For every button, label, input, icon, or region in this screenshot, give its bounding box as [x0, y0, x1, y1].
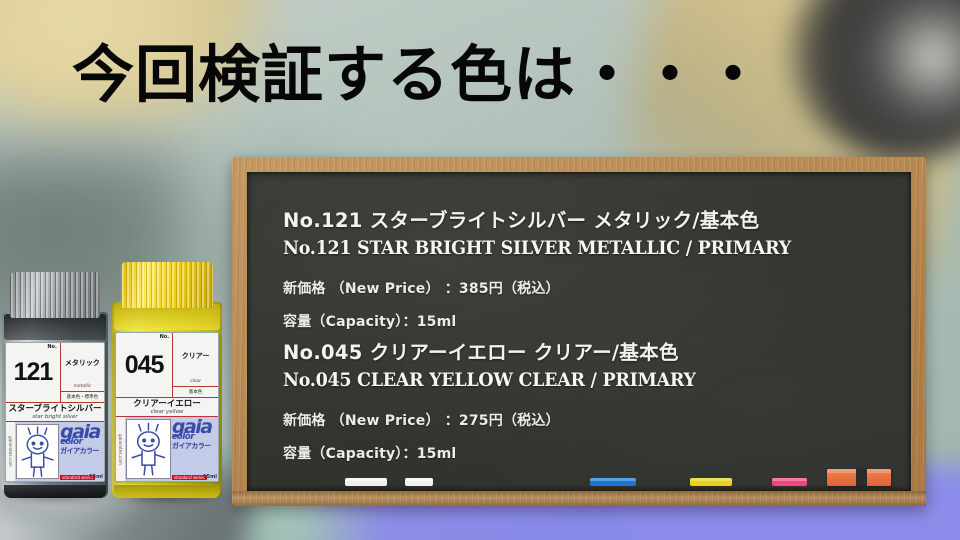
product-entry-no121: No.121 スターブライトシルバー メタリック/基本色 No.121 STAR…: [283, 204, 835, 331]
chalk-pink[interactable]: [772, 478, 807, 486]
label-colorname-no121: スターブライトシルバー star bright silver: [6, 403, 104, 422]
product-heading-en-no045: No.045 CLEAR YELLOW CLEAR / PRIMARY: [283, 369, 696, 391]
volume-badge-no121: 15ml: [89, 474, 103, 480]
label-top-row-no121: No. 121 メタリック metallic 基本色・標準色: [6, 343, 104, 403]
frame-bottom-sheen: [232, 491, 926, 506]
product-heading-jp-no121: No.121 スターブライトシルバー メタリック/基本色: [283, 204, 835, 233]
label-colorname-en-no045: clear yellow: [116, 409, 218, 416]
label-finish-jp-no121: メタリック: [61, 343, 104, 384]
product-entry-no045: No.045 クリアーイエロー クリアー/基本色 No.045 CLEAR YE…: [283, 336, 732, 463]
chalk-blue[interactable]: [590, 478, 636, 486]
page-title: 今回検証する色は・・・: [72, 44, 765, 106]
volume-badge-no045: 15ml: [203, 474, 217, 480]
blackboard-frame: No.121 スターブライトシルバー メタリック/基本色 No.121 STAR…: [232, 157, 926, 506]
label-colorname-jp-no121: スターブライトシルバー: [6, 404, 104, 414]
label-number-block-no121: No. 121: [6, 343, 61, 402]
label-no-tag-no121: No.: [47, 344, 57, 350]
label-top-row-no045: No. 045 クリアー clear 基本色: [116, 333, 218, 398]
product-price-no045: 新価格 （New Price） ：275円（税込）: [283, 410, 732, 430]
label-side-url-no045: gaianotes.com: [116, 417, 125, 481]
mascot-icon: [126, 419, 171, 479]
label-finish-note-no045: 基本色: [173, 386, 218, 397]
paint-bottle-no121[interactable]: No. 121 メタリック metallic 基本色・標準色 スターブライトシル…: [2, 272, 108, 498]
label-finish-note-no121: 基本色・標準色: [61, 391, 104, 402]
product-capacity-no121: 容量（Capacity）：15ml: [283, 311, 835, 331]
product-heading-en-no121: No.121 STAR BRIGHT SILVER METALLIC / PRI…: [283, 237, 791, 259]
label-colorname-no045: クリアーイエロー clear yellow: [116, 398, 218, 417]
label-colorname-jp-no045: クリアーイエロー: [116, 399, 218, 409]
label-bottom-row-no121: gaianotes.com: [6, 422, 104, 481]
label-no-tag-no045: No.: [160, 334, 170, 340]
product-price-no121: 新価格 （New Price） ：385円（税込）: [283, 278, 835, 298]
bottle-glass-body-no121: No. 121 メタリック metallic 基本色・標準色 スターブライトシル…: [2, 312, 108, 498]
bottle-label-no121: No. 121 メタリック metallic 基本色・標準色 スターブライトシル…: [5, 342, 105, 482]
series-badge-no045: standard series: [172, 475, 207, 480]
label-colorname-en-no121: star bright silver: [6, 414, 104, 421]
brand-jp-no121: ガイアカラー: [60, 446, 102, 456]
brand-jp-no045: ガイアカラー: [172, 441, 216, 451]
label-finish-jp-no045: クリアー: [173, 333, 218, 379]
chalk-yellow[interactable]: [690, 478, 732, 486]
label-number-block-no045: No. 045: [116, 333, 173, 397]
mascot-icon: [16, 424, 59, 479]
label-bottom-row-no045: gaianotes.com: [116, 417, 218, 481]
bottle-glass-body-no045: No. 045 クリアー clear 基本色 クリアーイエロー clear ye…: [112, 302, 222, 498]
bottle-base-no045: [114, 485, 220, 498]
label-brand-block-no121: gaia color ガイアカラー standard series 15ml: [59, 422, 104, 481]
label-number-no121: 121: [6, 343, 60, 402]
label-finish-block-no121: メタリック metallic 基本色・標準色: [61, 343, 104, 402]
chalk-white-2[interactable]: [405, 478, 433, 486]
product-heading-jp-no045: No.045 クリアーイエロー クリアー/基本色: [283, 336, 732, 365]
label-brand-block-no045: gaia color ガイアカラー standard series 15ml: [171, 417, 218, 481]
bottle-cap-no045[interactable]: [121, 262, 213, 308]
label-side-url-no121: gaianotes.com: [6, 422, 15, 481]
label-finish-block-no045: クリアー clear 基本色: [173, 333, 218, 397]
eraser-orange[interactable]: [827, 469, 891, 486]
chalk-white-1[interactable]: [345, 478, 387, 486]
bottle-base-no121: [4, 485, 106, 498]
blackboard-slate: No.121 スターブライトシルバー メタリック/基本色 No.121 STAR…: [247, 172, 911, 491]
label-number-no045: 045: [116, 333, 172, 397]
product-capacity-no045: 容量（Capacity）：15ml: [283, 443, 732, 463]
bottle-label-no045: No. 045 クリアー clear 基本色 クリアーイエロー clear ye…: [115, 332, 219, 482]
bottle-cap-no121[interactable]: [10, 272, 99, 318]
paint-bottle-no045[interactable]: No. 045 クリアー clear 基本色 クリアーイエロー clear ye…: [112, 262, 222, 498]
label-finish-en-no045: clear: [173, 379, 218, 386]
label-finish-en-no121: metallic: [61, 384, 104, 391]
